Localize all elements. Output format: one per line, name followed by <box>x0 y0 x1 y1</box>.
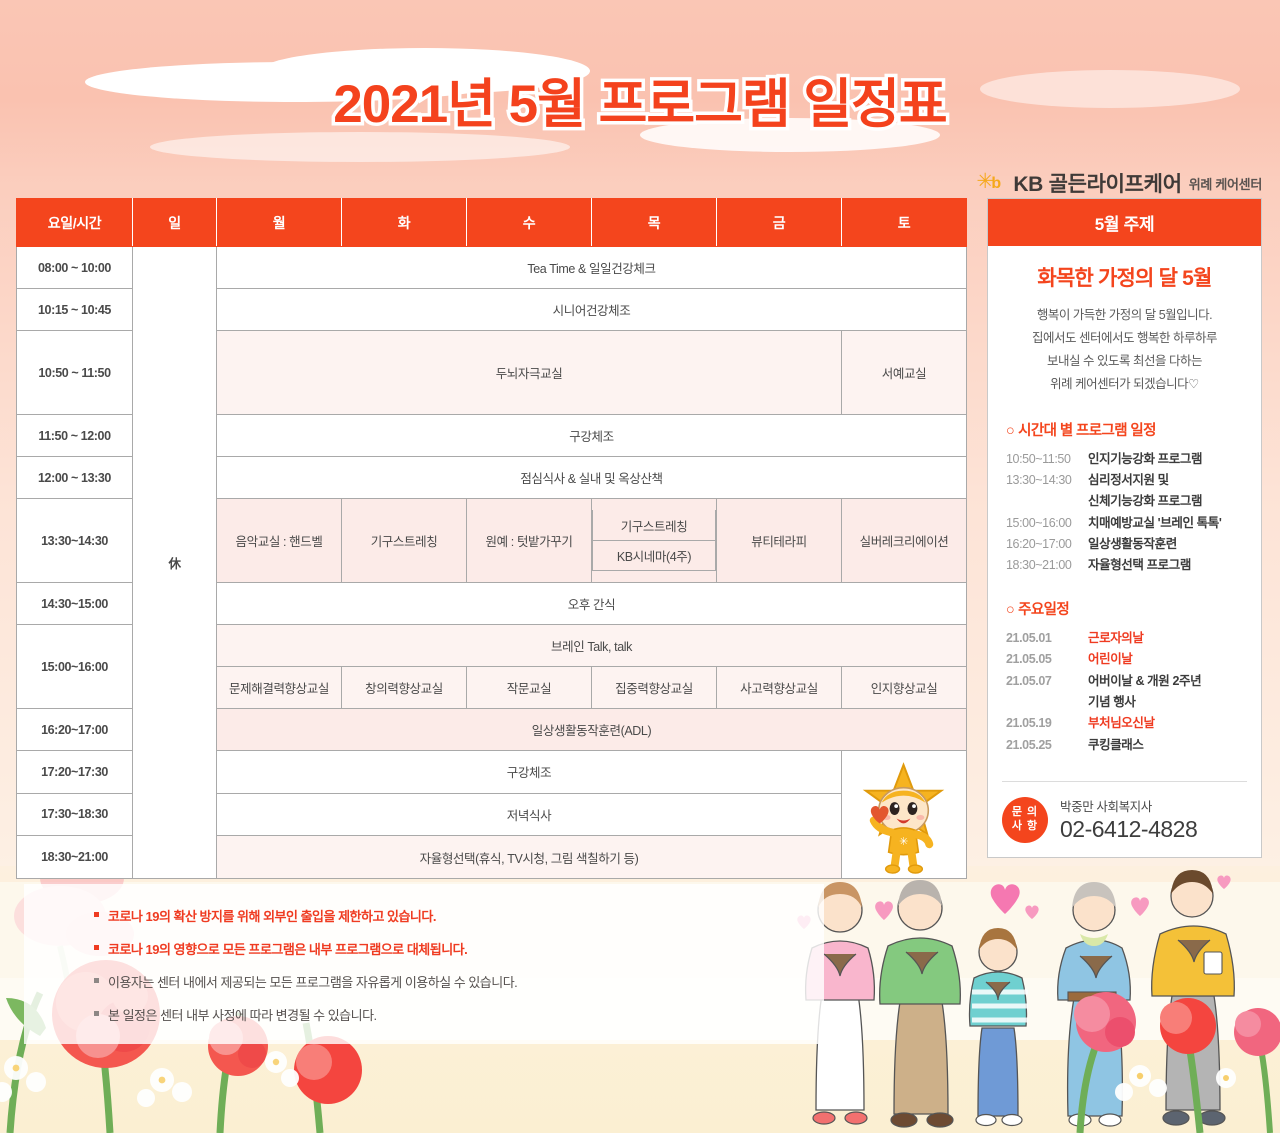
schedule-table: 요일/시간 일 월 화 수 목 금 토 08:00 ~ 10:00 休 Tea … <box>16 198 967 879</box>
timeslot-name: 치매예방교실 '브레인 톡톡' <box>1088 514 1221 533</box>
event-name: 쿠킹클래스 <box>1088 736 1144 755</box>
cell-activity: 음악교실 : 핸드벨 <box>217 499 342 583</box>
timeslot-name: 인지기능강화 프로그램 <box>1088 450 1202 469</box>
bullet-ring-icon: ○ <box>1006 423 1014 439</box>
b-glyph: b <box>991 176 1001 192</box>
page-title: 2021년 5월 프로그램 일정표 <box>333 62 946 138</box>
timeslot-name: 자율형선택 프로그램 <box>1088 556 1191 575</box>
event-item: 21.05.19부처님오신날 <box>1002 714 1247 733</box>
notice-item: 본 일정은 센터 내부 사정에 따라 변경될 수 있습니다. <box>94 1005 804 1024</box>
timeslot-list: 10:50~11:50인지기능강화 프로그램13:30~14:30심리정서지원 … <box>1002 450 1247 576</box>
event-item: 21.05.05어린이날 <box>1002 650 1247 669</box>
row-time: 14:30~15:00 <box>17 583 133 625</box>
event-name: 어버이날 & 개원 2주년 <box>1088 672 1201 691</box>
row-time: 10:15 ~ 10:45 <box>17 289 133 331</box>
badge-line-1: 문 의 <box>1012 806 1038 820</box>
theme-description-line: 위례 케어센터가 되겠습니다♡ <box>1002 373 1247 396</box>
row-time: 17:30~18:30 <box>17 793 133 836</box>
timeslot-time: 15:00~16:00 <box>1002 514 1088 533</box>
timeslot-item: 10:50~11:50인지기능강화 프로그램 <box>1002 450 1247 469</box>
logo-branch: 위례 케어센터 <box>1189 174 1262 193</box>
timeslot-name: 일상생활동작훈련 <box>1088 535 1177 554</box>
floating-hearts <box>797 875 1230 929</box>
cell-activity: 자율형선택(휴식, TV시청, 그림 색칠하기 등) <box>217 836 842 879</box>
svg-text:✳: ✳ <box>899 836 908 848</box>
cell-activity: 기구스트레칭 <box>342 499 467 583</box>
contact-phone[interactable]: 02-6412-4828 <box>1060 816 1197 843</box>
cell-activity: 집중력향상교실 <box>592 667 717 709</box>
bullet-square-icon <box>94 1011 99 1016</box>
poster-root: 2021년 5월 프로그램 일정표 ✳ b KB 골든라이프케어 위례 케어센터… <box>0 0 1280 1133</box>
inquiry-badge: 문 의 사 항 <box>1002 797 1048 843</box>
row-time: 16:20~17:00 <box>17 709 133 751</box>
cell-activity: 기구스트레칭 <box>593 510 716 540</box>
timeslot-item: 신체기능강화 프로그램 <box>1002 492 1247 511</box>
event-name: 근로자의날 <box>1088 629 1144 648</box>
row-time: 10:50 ~ 11:50 <box>17 331 133 415</box>
header-sat: 토 <box>842 199 967 247</box>
cell-activity: Tea Time & 일일건강체크 <box>217 247 967 289</box>
cell-activity: 구강체조 <box>217 751 842 794</box>
header-time: 요일/시간 <box>17 199 133 247</box>
main-content: 요일/시간 일 월 화 수 목 금 토 08:00 ~ 10:00 休 Tea … <box>16 198 1264 879</box>
kb-star-icon: ✳ b <box>976 170 1006 196</box>
row-time: 08:00 ~ 10:00 <box>17 247 133 289</box>
theme-title: 화목한 가정의 달 5월 <box>1002 262 1247 292</box>
cell-activity: KB시네마(4주) <box>593 540 716 570</box>
event-item: 21.05.01근로자의날 <box>1002 629 1247 648</box>
schedule-section-label: 시간대 별 프로그램 일정 <box>1018 423 1156 439</box>
event-name: 어린이날 <box>1088 650 1132 669</box>
timeslot-name: 신체기능강화 프로그램 <box>1088 492 1202 511</box>
sidebar-panel: 5월 주제 화목한 가정의 달 5월 행복이 가득한 가정의 달 5월입니다.집… <box>987 198 1262 858</box>
timeslot-item: 13:30~14:30심리정서지원 및 <box>1002 471 1247 490</box>
cell-activity: 구강체조 <box>217 415 967 457</box>
cell-activity-banner: 브레인 Talk, talk <box>217 625 967 667</box>
badge-line-2: 사 항 <box>1012 820 1038 834</box>
carnation-small <box>294 1036 362 1104</box>
timeslot-item: 15:00~16:00치매예방교실 '브레인 톡톡' <box>1002 514 1247 533</box>
sunday-rest-cell: 休 <box>133 247 217 879</box>
contact-text: 박중만 사회복지사 02-6412-4828 <box>1060 796 1197 843</box>
kb-logo: ✳ b KB 골든라이프케어 위례 케어센터 <box>976 168 1262 198</box>
cell-activity: 오후 간식 <box>217 583 967 625</box>
notice-text: 코로나 19의 확산 방지를 위해 외부인 출입을 제한하고 있습니다. <box>108 906 436 925</box>
mascot-cell: ✳ <box>842 751 967 879</box>
events-section-title: ○주요일정 <box>1006 598 1247 619</box>
event-date: 21.05.05 <box>1002 650 1088 669</box>
row-time: 11:50 ~ 12:00 <box>17 415 133 457</box>
carnation-flowers-right <box>1020 960 1280 1133</box>
row-time: 18:30~21:00 <box>17 836 133 879</box>
cell-activity: 두뇌자극교실 <box>217 331 842 415</box>
cell-activity: 원예 : 텃밭가꾸기 <box>467 499 592 583</box>
header-mon: 월 <box>217 199 342 247</box>
timeslot-item: 16:20~17:00일상생활동작훈련 <box>1002 535 1247 554</box>
timeslot-item: 18:30~21:00자율형선택 프로그램 <box>1002 556 1247 575</box>
theme-description: 행복이 가득한 가정의 달 5월입니다.집에서도 센터에서도 행복한 하루하루보… <box>1002 304 1247 397</box>
header-thu: 목 <box>592 199 717 247</box>
sidebar-body: 화목한 가정의 달 5월 행복이 가득한 가정의 달 5월입니다.집에서도 센터… <box>988 246 1261 857</box>
timeslot-time: 16:20~17:00 <box>1002 535 1088 554</box>
person-man-green <box>880 880 961 1127</box>
event-item: 21.05.25쿠킹클래스 <box>1002 736 1247 755</box>
notice-item: 이용자는 센터 내에서 제공되는 모든 프로그램을 자유롭게 이용하실 수 있습… <box>94 972 804 991</box>
notice-item: 코로나 19의 확산 방지를 위해 외부인 출입을 제한하고 있습니다. <box>94 906 804 925</box>
kb-mascot-icon: ✳ <box>842 751 966 875</box>
notice-text: 이용자는 센터 내에서 제공되는 모든 프로그램을 자유롭게 이용하실 수 있습… <box>108 972 517 991</box>
event-name: 부처님오신날 <box>1088 714 1155 733</box>
contact-person: 박중만 사회복지사 <box>1060 796 1197 815</box>
bullet-square-icon <box>94 945 99 950</box>
bullet-square-icon <box>94 912 99 917</box>
notice-list: 코로나 19의 확산 방지를 위해 외부인 출입을 제한하고 있습니다.코로나 … <box>24 884 824 1044</box>
theme-description-line: 집에서도 센터에서도 행복한 하루하루 <box>1002 327 1247 350</box>
cell-activity: 인지향상교실 <box>842 667 967 709</box>
event-item: 기념 행사 <box>1002 693 1247 712</box>
bullet-square-icon <box>94 978 99 983</box>
schedule-section-title: ○시간대 별 프로그램 일정 <box>1006 419 1247 440</box>
timeslot-time: 10:50~11:50 <box>1002 450 1088 469</box>
table-row: 08:00 ~ 10:00 休 Tea Time & 일일건강체크 <box>17 247 967 289</box>
event-name: 기념 행사 <box>1088 693 1135 712</box>
event-date: 21.05.01 <box>1002 629 1088 648</box>
notice-item: 코로나 19의 영향으로 모든 프로그램은 내부 프로그램으로 대체됩니다. <box>94 939 804 958</box>
cell-activity: 작문교실 <box>467 667 592 709</box>
cell-activity: 창의력향상교실 <box>342 667 467 709</box>
notice-text: 코로나 19의 영향으로 모든 프로그램은 내부 프로그램으로 대체됩니다. <box>108 939 467 958</box>
event-date: 21.05.07 <box>1002 672 1088 691</box>
cell-activity: 문제해결력향상교실 <box>217 667 342 709</box>
theme-description-line: 행복이 가득한 가정의 달 5월입니다. <box>1002 304 1247 327</box>
stacked-subtable: 기구스트레칭 KB시네마(4주) <box>592 510 716 571</box>
cell-activity: 실버레크리에이션 <box>842 499 967 583</box>
table-header-row: 요일/시간 일 월 화 수 목 금 토 <box>17 199 967 247</box>
bullet-ring-icon: ○ <box>1006 602 1014 618</box>
timeslot-time: 13:30~14:30 <box>1002 471 1088 490</box>
cell-activity: 서예교실 <box>842 331 967 415</box>
cell-activity: 뷰티테라피 <box>717 499 842 583</box>
sidebar-header: 5월 주제 <box>988 199 1261 246</box>
event-date: 21.05.25 <box>1002 736 1088 755</box>
cell-activity: 저녁식사 <box>217 793 842 836</box>
event-item: 21.05.07어버이날 & 개원 2주년 <box>1002 672 1247 691</box>
cell-activity-stacked: 기구스트레칭 KB시네마(4주) <box>592 499 717 583</box>
header-sun: 일 <box>133 199 217 247</box>
row-time: 12:00 ~ 13:30 <box>17 457 133 499</box>
header-fri: 금 <box>717 199 842 247</box>
events-list: 21.05.01근로자의날21.05.05어린이날21.05.07어버이날 & … <box>1002 629 1247 755</box>
header-tue: 화 <box>342 199 467 247</box>
header-wed: 수 <box>467 199 592 247</box>
page-title-wrap: 2021년 5월 프로그램 일정표 <box>0 62 1280 138</box>
timeslot-time: 18:30~21:00 <box>1002 556 1088 575</box>
row-time: 13:30~14:30 <box>17 499 133 583</box>
row-time: 17:20~17:30 <box>17 751 133 794</box>
cell-activity: 사고력향상교실 <box>717 667 842 709</box>
row-time: 15:00~16:00 <box>17 625 133 709</box>
theme-description-line: 보내실 수 있도록 최선을 다하는 <box>1002 350 1247 373</box>
timeslot-name: 심리정서지원 및 <box>1088 471 1169 490</box>
contact-block: 문 의 사 항 박중만 사회복지사 02-6412-4828 <box>1002 781 1247 843</box>
events-section-label: 주요일정 <box>1018 602 1069 618</box>
cell-activity: 점심식사 & 실내 및 옥상산책 <box>217 457 967 499</box>
event-date: 21.05.19 <box>1002 714 1088 733</box>
logo-brand: KB 골든라이프케어 <box>1013 168 1181 198</box>
cell-activity: 시니어건강체조 <box>217 289 967 331</box>
notice-text: 본 일정은 센터 내부 사정에 따라 변경될 수 있습니다. <box>108 1005 377 1024</box>
cell-activity: 일상생활동작훈련(ADL) <box>217 709 967 751</box>
